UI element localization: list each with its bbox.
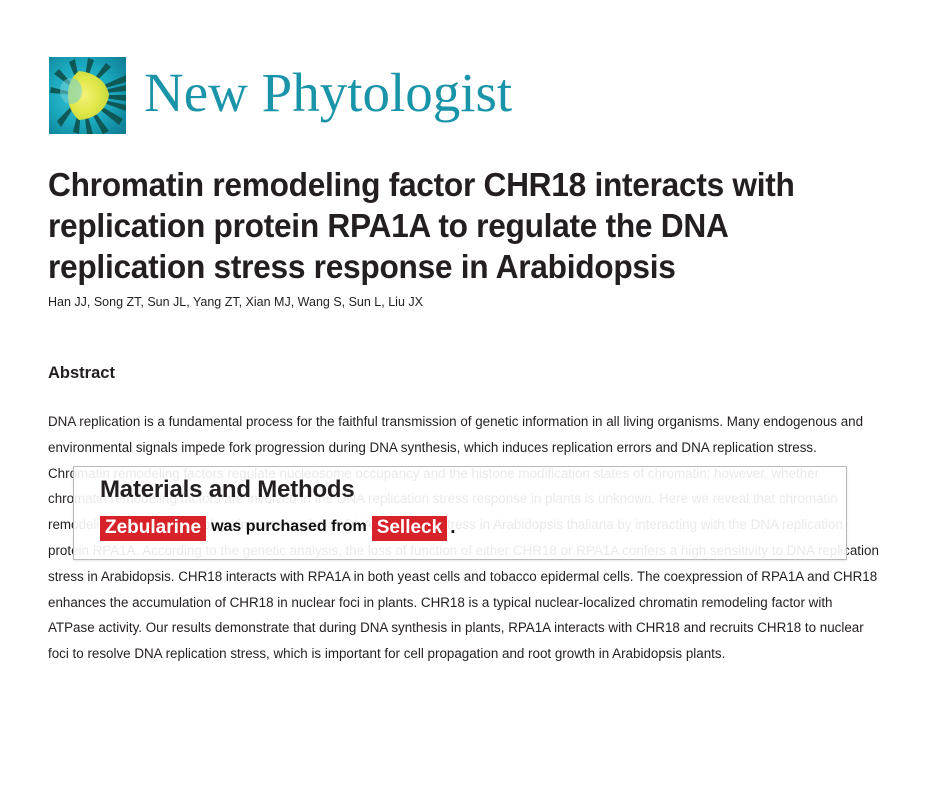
- overlay-sentence-trailing: .: [447, 517, 455, 538]
- journal-name: New Phytologist: [144, 65, 512, 126]
- article-page: New Phytologist Chromatin remodeling fac…: [0, 0, 930, 787]
- highlight-compound: Zebularine: [100, 516, 206, 541]
- overlay-sentence: Zebularinewas purchased fromSelleck.: [100, 512, 455, 543]
- highlight-supplier: Selleck: [372, 516, 448, 541]
- materials-and-methods-overlay: Materials and Methods Zebularinewas purc…: [73, 466, 847, 560]
- journal-masthead: New Phytologist: [49, 57, 512, 134]
- article-title: Chromatin remodeling factor CHR18 intera…: [48, 164, 845, 287]
- article-authors: Han JJ, Song ZT, Sun JL, Yang ZT, Xian M…: [48, 294, 423, 310]
- abstract-heading: Abstract: [48, 364, 115, 383]
- overlay-heading: Materials and Methods: [100, 476, 355, 504]
- overlay-sentence-middle: was purchased from: [206, 518, 372, 535]
- sunburst-logo-icon: [49, 57, 126, 134]
